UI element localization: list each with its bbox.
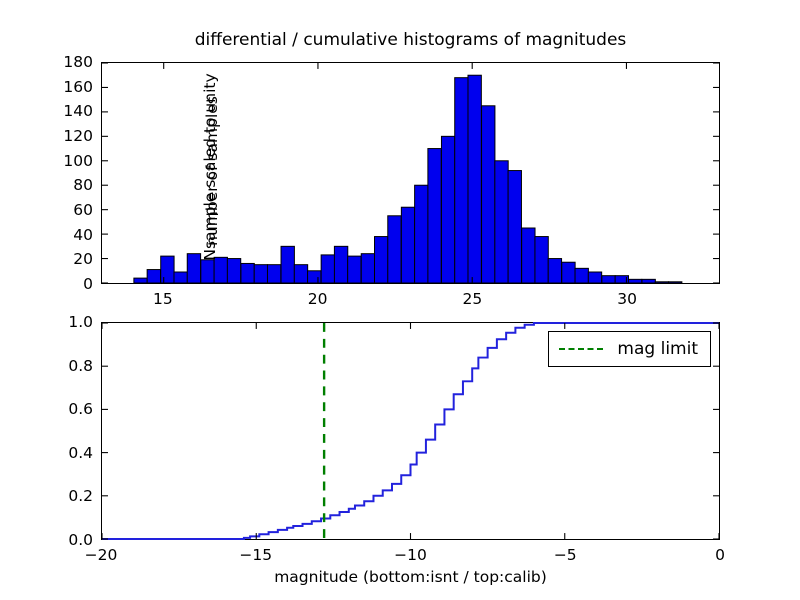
y-tick-label: 0.2	[0, 487, 93, 505]
y-tick-label: 180	[0, 53, 93, 71]
y-tick-label: 160	[0, 78, 93, 96]
x-tick-label: 20	[278, 290, 358, 308]
y-tick-label: 0	[0, 275, 93, 293]
y-tick-label: 20	[0, 250, 93, 268]
y-tick-label: 120	[0, 127, 93, 145]
y-tick-label: 100	[0, 152, 93, 170]
y-tick-label: 0.6	[0, 400, 93, 418]
x-tick-label: −10	[371, 546, 451, 564]
x-tick-label: 30	[587, 290, 667, 308]
y-tick-label: 140	[0, 102, 93, 120]
cumulative-axes: mag limit	[101, 322, 720, 540]
y-tick-label: 0.8	[0, 357, 93, 375]
x-tick-label: 0	[680, 546, 760, 564]
y-tick-label: 80	[0, 176, 93, 194]
x-tick-label: −15	[216, 546, 296, 564]
histogram-tickmarks	[102, 63, 719, 283]
y-tick-label: 40	[0, 226, 93, 244]
x-axis-label: magnitude (bottom:isnt / top:calib)	[101, 568, 720, 586]
x-tick-label: 15	[123, 290, 203, 308]
x-tick-label: −5	[525, 546, 605, 564]
figure-canvas: differential / cumulative histograms of …	[0, 0, 800, 600]
legend-label-mag-limit: mag limit	[617, 339, 698, 359]
y-tick-label: 1.0	[0, 313, 93, 331]
x-tick-label: 25	[432, 290, 512, 308]
cumulative-y-axis-label: Nsample scaled to unity	[201, 58, 219, 276]
legend: mag limit	[548, 331, 711, 367]
page-title: differential / cumulative histograms of …	[101, 30, 720, 50]
x-tick-label: −20	[61, 546, 141, 564]
histogram-axes	[101, 62, 720, 284]
y-tick-label: 0.4	[0, 444, 93, 462]
legend-dashed-line-icon	[559, 348, 603, 350]
y-tick-label: 60	[0, 201, 93, 219]
